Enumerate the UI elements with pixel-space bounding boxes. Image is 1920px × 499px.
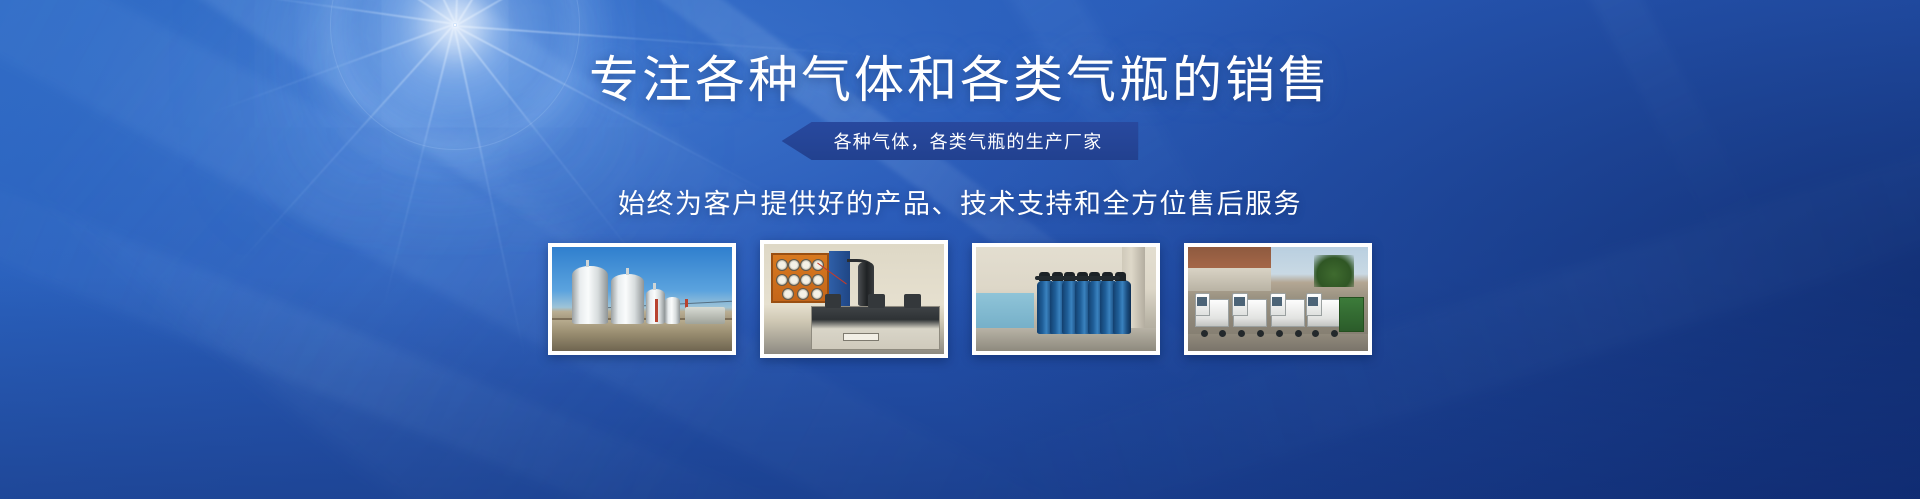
banner-photo-strip <box>548 243 1372 358</box>
photo-image-gas-cylinders <box>976 247 1156 351</box>
hero-banner: 专注各种气体和各类气瓶的销售 各种气体，各类气瓶的生产厂家 始终为客户提供好的产… <box>0 0 1920 499</box>
banner-badge-wrapper: 各种气体，各类气瓶的生产厂家 <box>782 122 1139 160</box>
banner-content: 专注各种气体和各类气瓶的销售 各种气体，各类气瓶的生产厂家 始终为客户提供好的产… <box>0 0 1920 499</box>
banner-badge: 各种气体，各类气瓶的生产厂家 <box>782 122 1139 160</box>
photo-image-control-panel <box>764 244 944 354</box>
photo-blue-gas-cylinder-storage[interactable] <box>972 243 1160 355</box>
banner-subline: 始终为客户提供好的产品、技术支持和全方位售后服务 <box>618 182 1302 221</box>
photo-liquid-gas-storage-tanks[interactable] <box>548 243 736 355</box>
photo-image-storage-tanks <box>552 247 732 351</box>
photo-image-delivery-trucks <box>1188 247 1368 351</box>
banner-headline: 专注各种气体和各类气瓶的销售 <box>589 52 1331 108</box>
photo-delivery-truck-fleet[interactable] <box>1184 243 1372 355</box>
photo-cylinder-filling-control-panel[interactable] <box>760 240 948 358</box>
